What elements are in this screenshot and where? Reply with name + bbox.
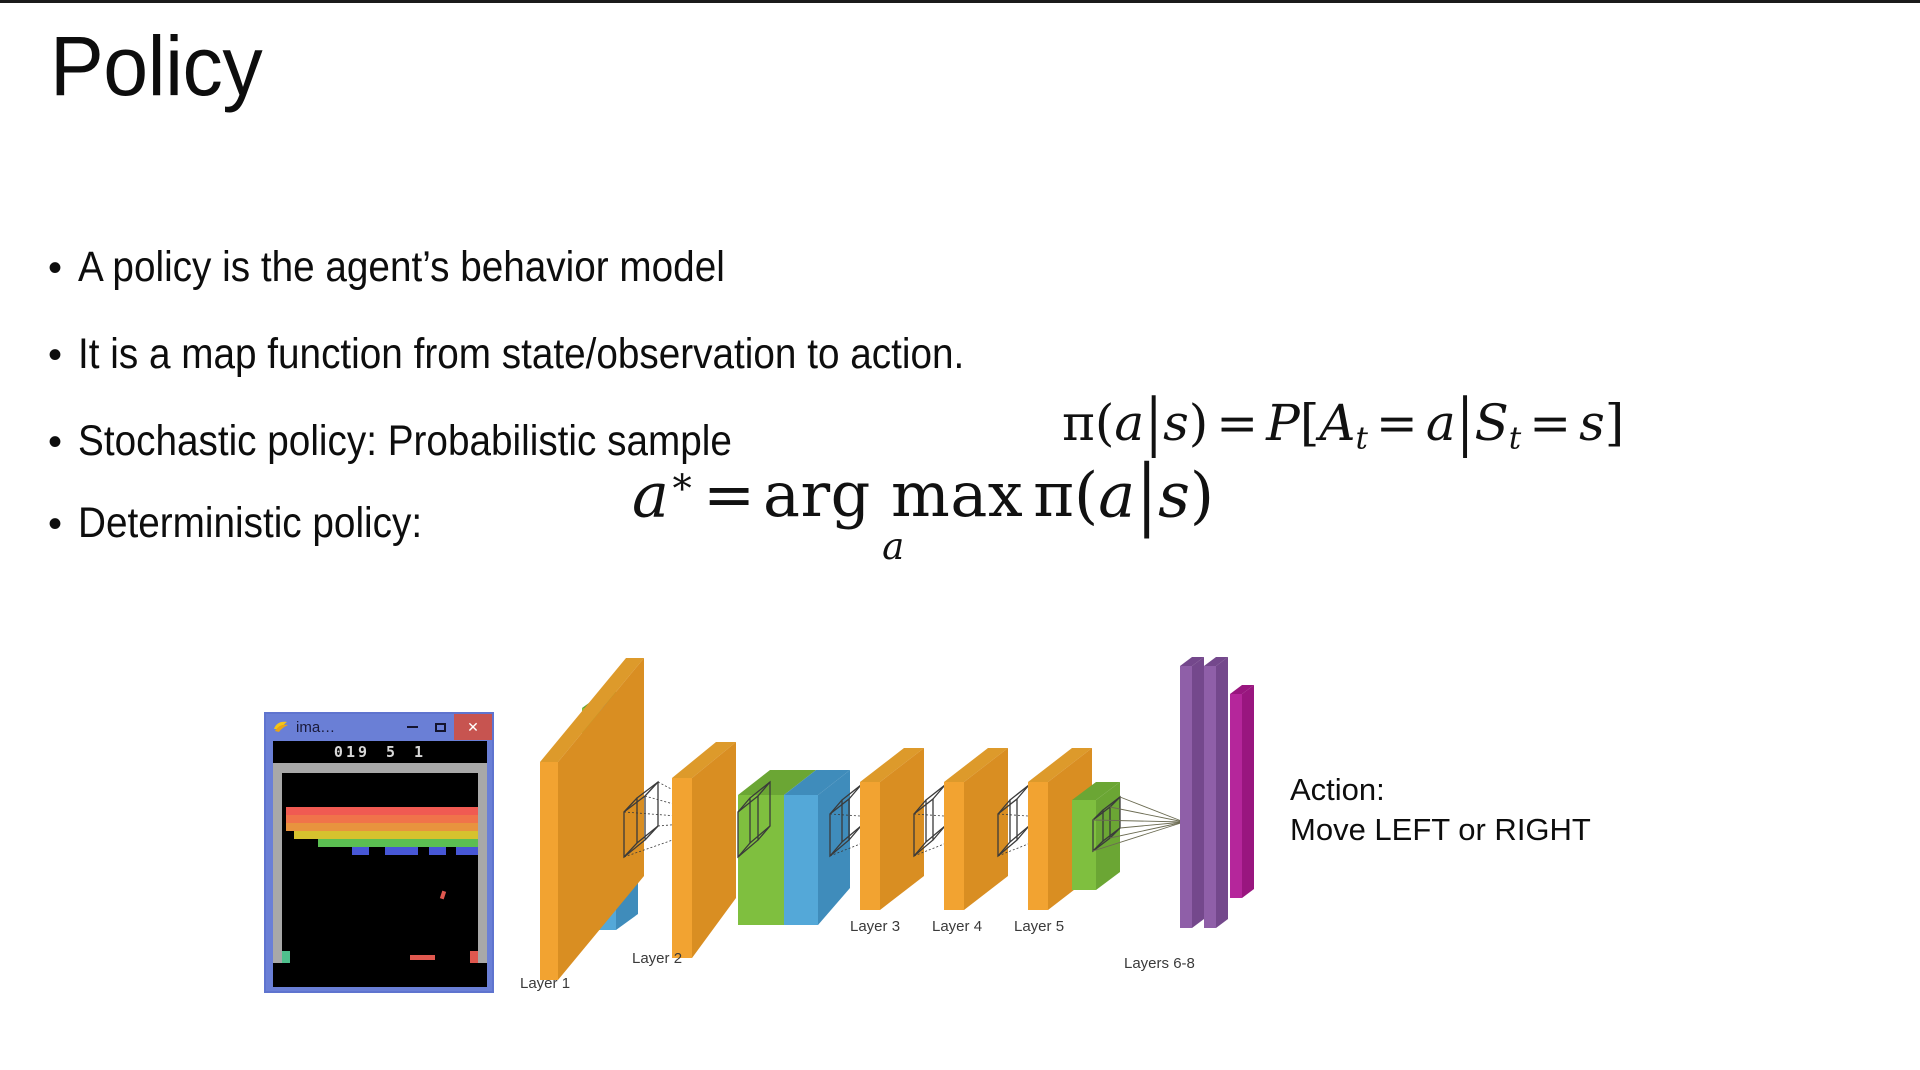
formula-open-bracket: [ — [1300, 394, 1320, 452]
fc-bar-1 — [1180, 657, 1204, 928]
formula-close-paren: ) — [1189, 394, 1209, 452]
formula-argmax: arg maxa — [763, 464, 1023, 565]
bullet-text-4: Deterministic policy: — [78, 500, 422, 547]
brick-row-yellow — [294, 831, 478, 839]
layer-label-4: Layer 4 — [932, 918, 982, 935]
layer2-orange-slab — [672, 742, 736, 958]
right-wall-marker — [470, 951, 478, 963]
formula-prob-P: P — [1266, 394, 1300, 452]
cnn-architecture-diagram: Layer 1 Layer 2 Layer 3 Layer 4 Layer 5 … — [520, 630, 1300, 1050]
bullet-marker-icon: • — [48, 422, 78, 462]
window-title-text: ima… — [296, 719, 398, 736]
brick-segment-blue — [456, 847, 478, 855]
formula-optimal-action-a: a — [632, 458, 669, 531]
brick-segment-blue — [429, 847, 446, 855]
app-icon — [272, 719, 290, 735]
brick-segment-blue — [385, 847, 418, 855]
layer-label-1: Layer 1 — [520, 975, 570, 992]
action-caption: Action: Move LEFT or RIGHT — [1290, 770, 1591, 849]
window-titlebar[interactable]: ima… ✕ — [266, 714, 492, 740]
formula-pi-symbol: π — [1062, 394, 1095, 452]
formula-open-paren: ( — [1074, 458, 1098, 531]
formula-equals: = — [695, 458, 763, 531]
game-screen: 019 5 1 — [273, 741, 487, 987]
maximize-icon — [435, 723, 446, 732]
top-hairline — [0, 0, 1920, 3]
formula-action-A: A — [1319, 394, 1355, 452]
formula-argmax-subscript: a — [882, 528, 904, 565]
formula-open-paren: ( — [1095, 394, 1115, 452]
bullet-text-1: A policy is the agent’s behavior model — [78, 244, 725, 291]
breakout-game-window[interactable]: ima… ✕ 019 5 1 — [264, 712, 494, 993]
fc-bar-2 — [1204, 657, 1228, 928]
formula-deterministic-policy: a∗=arg maxaπ(a|s) — [632, 463, 1214, 565]
formula-stochastic-policy: π(a|s)=P[At=a|St=s] — [1062, 398, 1624, 455]
bullet-marker-icon: • — [48, 248, 78, 288]
score-value: 019 — [334, 743, 370, 761]
layer-label-6-8: Layers 6-8 — [1124, 955, 1195, 972]
formula-star-superscript: ∗ — [669, 459, 695, 504]
fc-bar-3-output — [1230, 685, 1254, 898]
formula-close-paren: ) — [1190, 458, 1214, 531]
brick-row-orange — [286, 815, 478, 823]
slide-canvas: Policy • A policy is the agent’s behavio… — [0, 0, 1920, 1070]
bullet-text-2: It is a map function from state/observat… — [78, 331, 964, 378]
layer-label-2: Layer 2 — [632, 950, 682, 967]
formula-conditional-bar: | — [1135, 455, 1158, 533]
minimize-button[interactable] — [398, 714, 426, 740]
formula-var-s-2: s — [1579, 394, 1605, 452]
formula-subscript-t: t — [1355, 421, 1367, 457]
formula-equals-2: = — [1368, 394, 1426, 452]
bullet-marker-icon: • — [48, 504, 78, 544]
layer1-orange-slab — [540, 658, 644, 980]
formula-argmax-operator: arg max — [763, 464, 1023, 526]
lives-value: 5 — [386, 743, 398, 761]
formula-var-s: s — [1163, 394, 1189, 452]
game-play-area — [282, 773, 478, 987]
left-wall-marker — [282, 951, 290, 963]
maximize-button[interactable] — [426, 714, 454, 740]
bullet-marker-icon: • — [48, 335, 78, 375]
game-ball — [440, 891, 446, 900]
action-caption-line1: Action: — [1290, 770, 1591, 810]
game-paddle — [410, 955, 435, 960]
formula-equals: = — [1208, 394, 1266, 452]
action-caption-line2: Move LEFT or RIGHT — [1290, 810, 1591, 850]
formula-var-a: a — [1098, 458, 1135, 531]
layer-label-5: Layer 5 — [1014, 918, 1064, 935]
formula-conditional-bar-2: | — [1456, 391, 1475, 454]
formula-var-s: s — [1158, 458, 1190, 531]
close-button[interactable]: ✕ — [454, 714, 492, 740]
formula-pi-symbol: π — [1023, 458, 1074, 531]
formula-equals-3: = — [1521, 394, 1579, 452]
brick-row-green — [318, 839, 478, 847]
layer-label-3: Layer 3 — [850, 918, 900, 935]
brick-segment-blue — [352, 847, 369, 855]
bullet-item-1: • A policy is the agent’s behavior model — [48, 244, 797, 291]
formula-subscript-t-2: t — [1509, 421, 1521, 457]
page-title: Policy — [50, 22, 262, 110]
formula-state-S: S — [1474, 394, 1508, 452]
cnn-svg — [520, 630, 1300, 1050]
formula-close-bracket: ] — [1605, 394, 1625, 452]
brick-row-red — [286, 807, 478, 815]
layer2-output-green-blue — [738, 770, 850, 925]
formula-var-a: a — [1114, 394, 1144, 452]
level-value: 1 — [414, 743, 426, 761]
formula-conditional-bar: | — [1144, 391, 1163, 454]
minimize-icon — [407, 726, 418, 728]
bullet-item-4: • Deterministic policy: — [48, 500, 460, 547]
bullet-item-2: • It is a map function from state/observ… — [48, 331, 1063, 378]
formula-var-a-2: a — [1426, 394, 1456, 452]
brick-row-light-orange — [286, 823, 478, 831]
score-display: 019 5 1 — [273, 741, 487, 763]
